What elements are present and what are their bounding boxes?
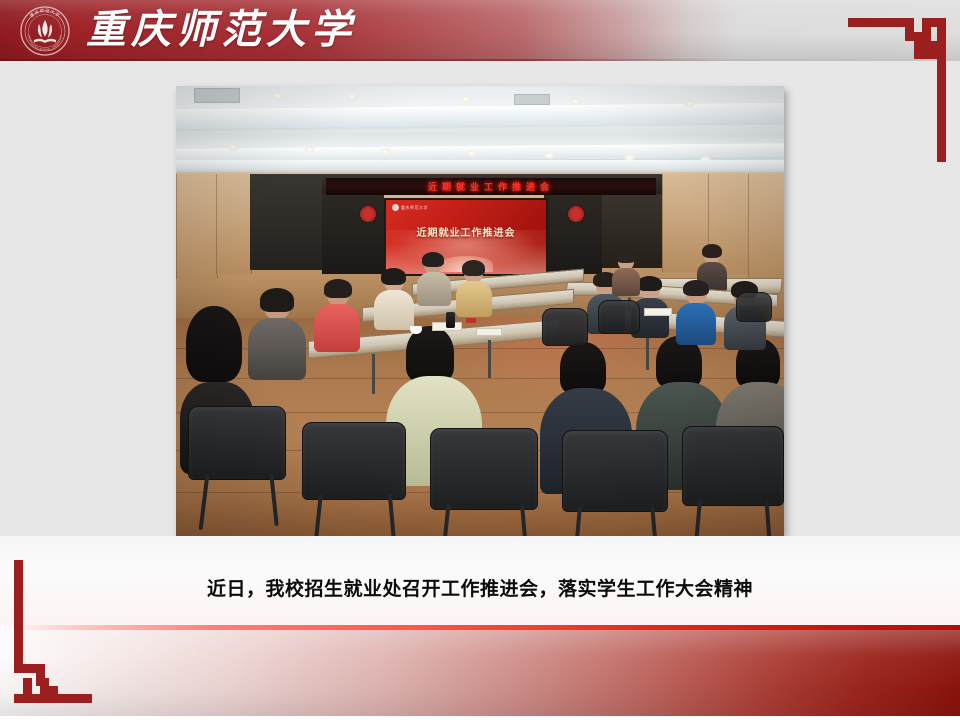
chair-2 xyxy=(302,422,406,500)
led-banner-text: 近期就业工作推进会 xyxy=(428,180,554,193)
screen-logo-text: 重庆师范大学 xyxy=(401,205,428,211)
table-document-3 xyxy=(644,308,672,316)
table-document-2 xyxy=(476,328,502,336)
chair-4 xyxy=(562,430,668,512)
footer-band xyxy=(0,630,960,716)
chair-3 xyxy=(430,428,538,510)
chair-mid-1 xyxy=(542,308,588,346)
wall-emblem-left-icon xyxy=(360,206,376,222)
slide-caption: 近日，我校招生就业处召开工作推进会，落实学生工作大会精神 xyxy=(0,574,960,601)
led-banner: 近期就业工作推进会 xyxy=(326,178,656,195)
chair-1 xyxy=(188,406,286,480)
chair-mid-3 xyxy=(736,292,772,322)
svg-text:重庆师范大学: 重庆师范大学 xyxy=(28,7,61,19)
meeting-photo-content: 近期就业工作推进会 重庆师范大学 近期就业工作推进会 xyxy=(176,86,784,536)
university-name-title: 重庆师范大学 xyxy=(86,2,356,58)
wall-emblem-right-icon xyxy=(568,206,584,222)
chair-5 xyxy=(682,426,784,506)
screen-title-text: 近期就业工作推进会 xyxy=(386,224,546,239)
slide-canvas: 重庆师范大学 CHONGQING NORMAL UNIVERSITY 重庆师范大… xyxy=(0,0,960,720)
chinese-corner-ornament-bottom-left-icon xyxy=(12,560,112,712)
footer-bottom-edge xyxy=(0,716,960,720)
chinese-corner-ornament-top-right-icon xyxy=(848,10,952,162)
university-emblem-icon: 重庆师范大学 CHONGQING NORMAL UNIVERSITY xyxy=(20,6,70,56)
red-notebook xyxy=(466,318,476,323)
chair-mid-2 xyxy=(598,300,640,334)
screen-logo-mark-icon xyxy=(392,204,399,211)
tea-cup xyxy=(410,326,422,334)
meeting-photo: 近期就业工作推进会 重庆师范大学 近期就业工作推进会 xyxy=(176,86,784,536)
screen-logo: 重庆师范大学 xyxy=(392,204,428,211)
header-underline xyxy=(0,59,960,61)
thermos-cup xyxy=(446,312,455,328)
